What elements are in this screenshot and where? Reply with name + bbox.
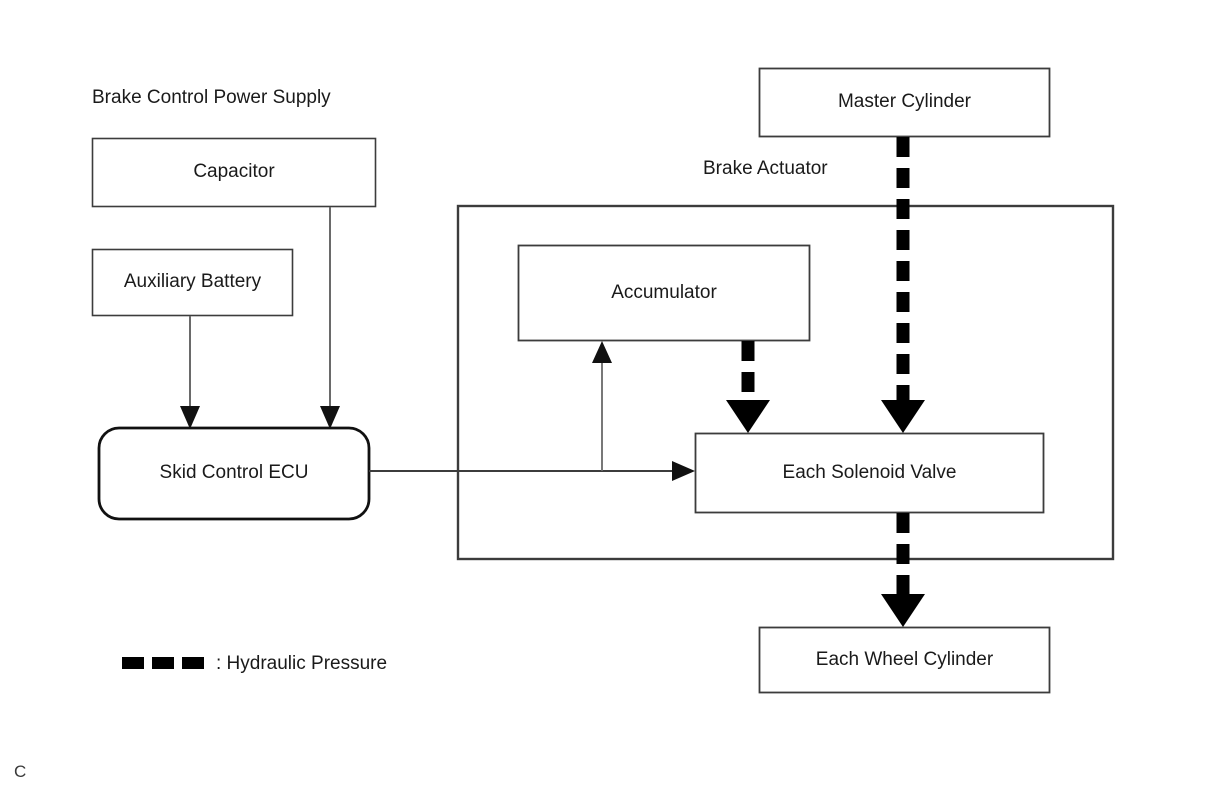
brake-actuator-label: Brake Actuator — [703, 158, 828, 181]
diagram-canvas: Brake Control Power Supply Brake Actuato… — [0, 0, 1212, 804]
each-solenoid-valve-label: Each Solenoid Valve — [695, 433, 1044, 513]
hydraulic-line-accumulator-to-solenoid-valve — [726, 341, 770, 433]
legend-hydraulic-pressure-label: : Hydraulic Pressure — [216, 653, 387, 675]
master-cylinder-label: Master Cylinder — [759, 68, 1050, 137]
connection-ecu-to-solenoid-valve — [369, 461, 695, 481]
capacitor-label: Capacitor — [92, 138, 376, 207]
auxiliary-battery-label: Auxiliary Battery — [92, 249, 293, 316]
connection-capacitor-to-ecu — [320, 207, 340, 429]
each-wheel-cylinder-label: Each Wheel Cylinder — [759, 627, 1050, 693]
hydraulic-line-solenoid-valve-to-wheel-cylinder — [881, 513, 925, 627]
connection-battery-to-ecu — [180, 316, 200, 429]
skid-control-ecu-label: Skid Control ECU — [99, 428, 369, 519]
brake-control-power-supply-label: Brake Control Power Supply — [92, 87, 331, 110]
accumulator-label: Accumulator — [518, 245, 810, 341]
page-corner-mark: C — [14, 762, 26, 782]
connection-ecu-to-accumulator — [592, 341, 612, 471]
hydraulic-line-master-cylinder-to-solenoid-valve — [881, 137, 925, 433]
legend-hydraulic-symbol — [122, 657, 204, 669]
